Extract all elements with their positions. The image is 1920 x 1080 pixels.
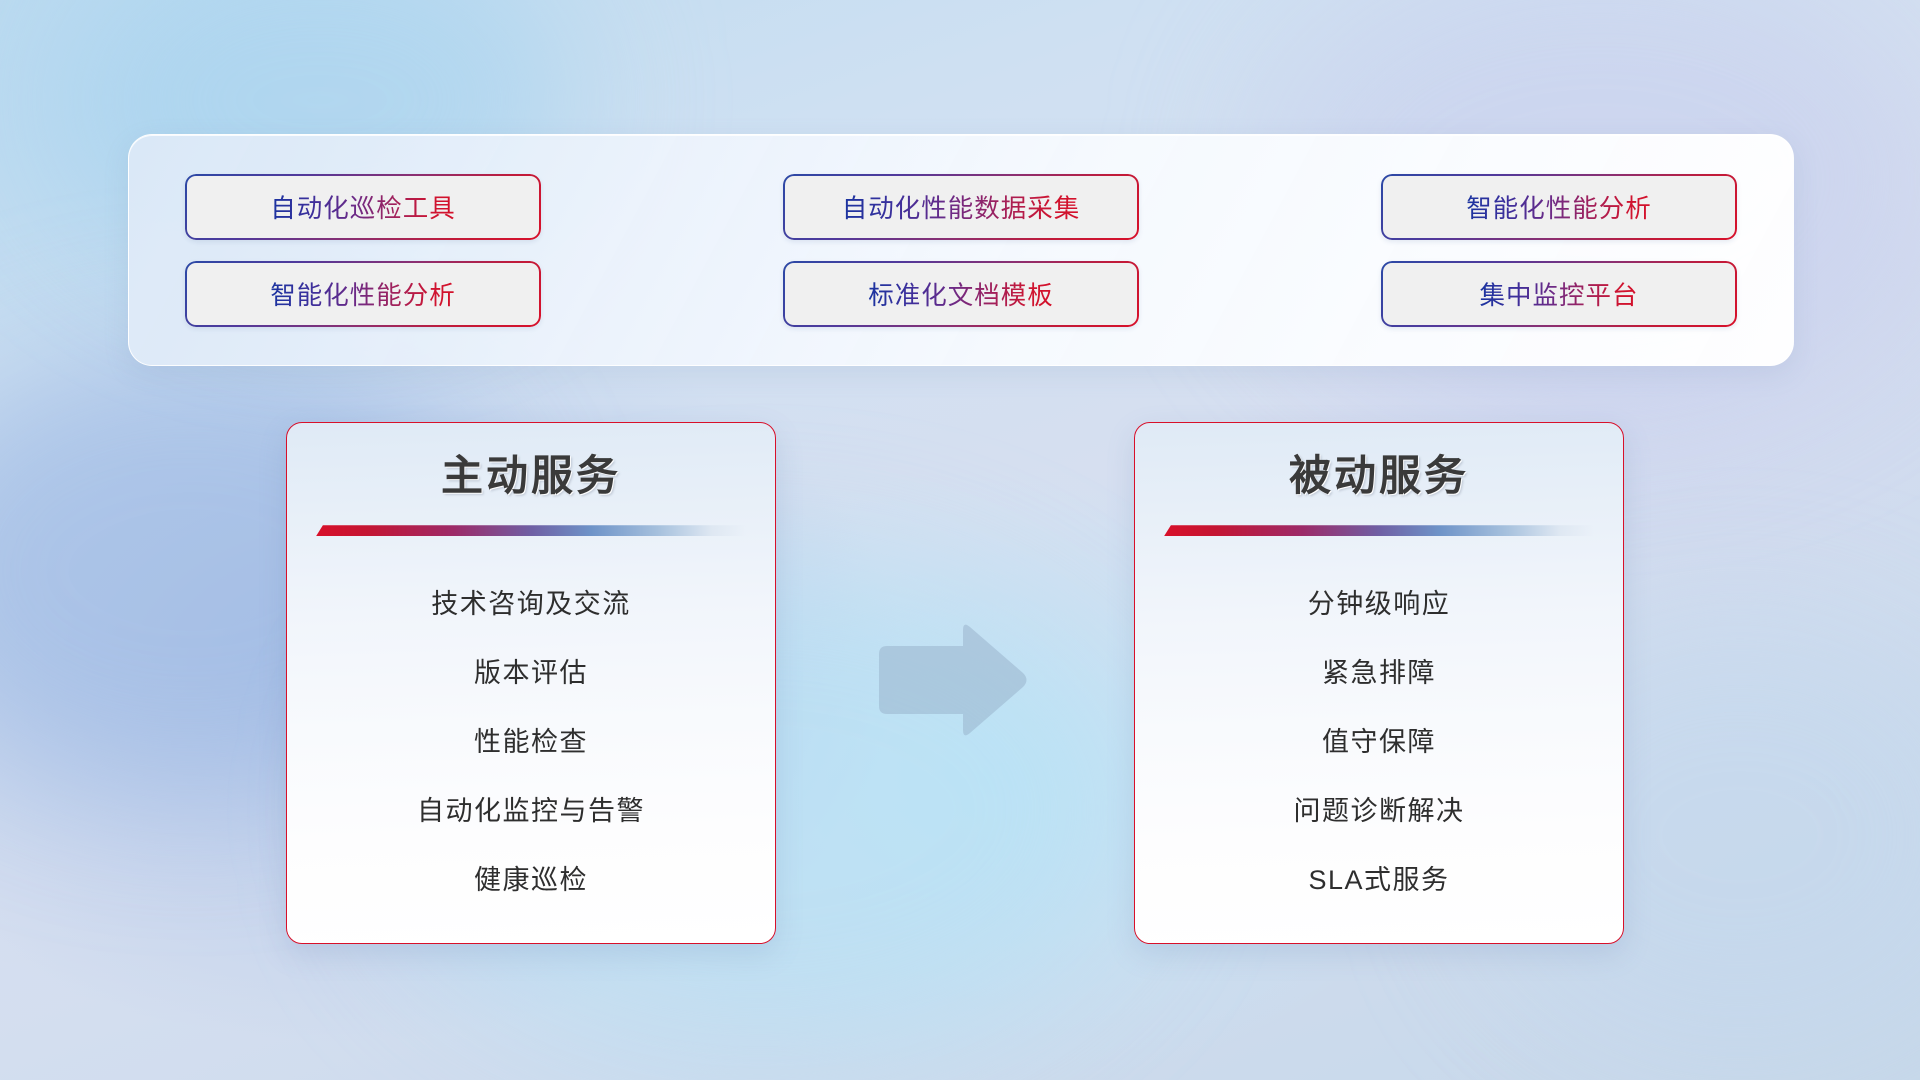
list-item: 分钟级响应 (1308, 570, 1451, 639)
service-card-reactive: 被动服务 分钟级响应 紧急排障 值守保障 问题诊断解决 SLA式服务 (1134, 422, 1624, 944)
list-item: 健康巡检 (474, 846, 588, 915)
capability-tag-label: 标准化文档模板 (868, 275, 1054, 312)
service-card-proactive: 主动服务 技术咨询及交流 版本评估 性能检查 自动化监控与告警 健康巡检 (286, 422, 776, 944)
service-list: 技术咨询及交流 版本评估 性能检查 自动化监控与告警 健康巡检 (313, 570, 749, 915)
list-item: 值守保障 (1322, 708, 1436, 777)
card-divider (316, 525, 746, 536)
list-item: 版本评估 (474, 639, 588, 708)
list-item: 自动化监控与告警 (417, 777, 645, 846)
capability-tag-label: 自动化性能数据采集 (842, 188, 1081, 225)
card-divider-bar (1164, 525, 1594, 536)
capability-tag-label: 自动化巡检工具 (270, 188, 456, 225)
service-list: 分钟级响应 紧急排障 值守保障 问题诊断解决 SLA式服务 (1161, 570, 1597, 915)
capability-tag[interactable]: 标准化文档模板 (783, 261, 1139, 327)
infographic-canvas: 自动化巡检工具 自动化性能数据采集 智能化性能分析 智能化性能分析 标准化文档模… (0, 0, 1920, 1080)
capability-tag[interactable]: 智能化性能分析 (1381, 174, 1737, 240)
capabilities-row-1: 自动化巡检工具 自动化性能数据采集 智能化性能分析 (185, 174, 1737, 240)
card-title: 被动服务 (1161, 453, 1597, 499)
capabilities-row-2: 智能化性能分析 标准化文档模板 集中监控平台 (185, 261, 1737, 327)
list-item: 性能检查 (474, 708, 588, 777)
card-divider (1164, 525, 1594, 536)
capability-tag[interactable]: 自动化巡检工具 (185, 174, 541, 240)
capabilities-panel: 自动化巡检工具 自动化性能数据采集 智能化性能分析 智能化性能分析 标准化文档模… (128, 134, 1794, 366)
capability-tag-label: 智能化性能分析 (270, 275, 456, 312)
capability-tag[interactable]: 集中监控平台 (1381, 261, 1737, 327)
list-item: 技术咨询及交流 (431, 570, 631, 639)
capability-tag[interactable]: 智能化性能分析 (185, 261, 541, 327)
list-item: 问题诊断解决 (1294, 777, 1465, 846)
capability-tag[interactable]: 自动化性能数据采集 (783, 174, 1139, 240)
right-arrow-icon (871, 620, 1031, 740)
card-title: 主动服务 (313, 453, 749, 499)
card-divider-bar (316, 525, 746, 536)
capability-tag-label: 智能化性能分析 (1466, 188, 1652, 225)
list-item: 紧急排障 (1322, 639, 1436, 708)
capability-tag-label: 集中监控平台 (1479, 275, 1638, 312)
list-item: SLA式服务 (1308, 846, 1449, 915)
